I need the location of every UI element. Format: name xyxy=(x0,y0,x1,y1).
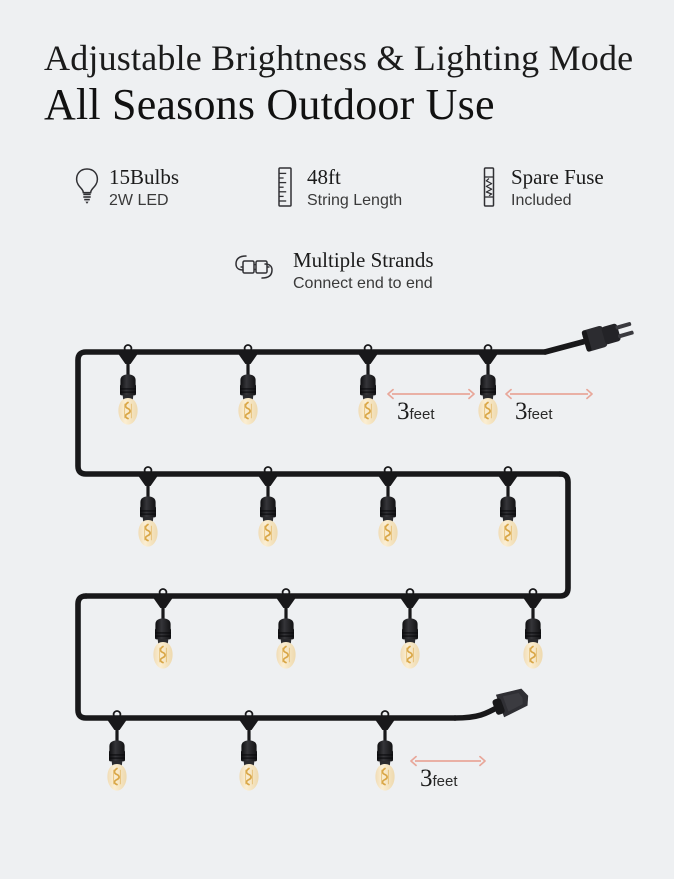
feature-text-fuse: Spare Fuse Included xyxy=(511,165,604,211)
bulb xyxy=(275,589,297,669)
bulb xyxy=(377,467,399,547)
feature-title: 15Bulbs xyxy=(109,166,179,188)
bulb xyxy=(399,589,421,669)
male-plug-end xyxy=(581,317,635,352)
bulb xyxy=(238,711,260,791)
dimension-unit: feet xyxy=(528,406,553,423)
bulb xyxy=(357,345,379,425)
dimension-unit: feet xyxy=(410,406,435,423)
bulb xyxy=(497,467,519,547)
cord-to-plug xyxy=(545,340,590,352)
feature-item-length: 48ft String Length xyxy=(272,165,402,211)
plug-connector-icon xyxy=(232,248,284,292)
dimension-unit: feet xyxy=(433,773,458,790)
string-light-layout-diagram: 3feet 3feet 3feet xyxy=(0,310,674,870)
dimension-number: 3 xyxy=(397,398,410,425)
fuse-icon xyxy=(476,165,502,209)
dimension-number: 3 xyxy=(420,765,433,792)
feature-subtitle: Connect end to end xyxy=(293,274,434,294)
bulb-row-1 xyxy=(117,345,499,425)
bulb-row-3 xyxy=(152,589,544,669)
cord-to-connector xyxy=(455,706,500,718)
feature-text-length: 48ft String Length xyxy=(307,165,402,211)
headline-line-2: All Seasons Outdoor Use xyxy=(44,80,644,130)
feature-title: Spare Fuse xyxy=(511,166,604,188)
light-bulb-icon xyxy=(74,165,100,209)
female-connector-end xyxy=(490,684,532,719)
dimension-label-3: 3feet xyxy=(420,765,458,793)
feature-text-bulbs: 15Bulbs 2W LED xyxy=(109,165,179,211)
dimension-label-1: 3feet xyxy=(397,398,435,426)
feature-item-bulbs: 15Bulbs 2W LED xyxy=(74,165,179,211)
bulb-row-4 xyxy=(106,711,396,791)
feature-subtitle: 2W LED xyxy=(109,191,179,211)
infographic-page: Adjustable Brightness & Lighting Mode Al… xyxy=(0,0,674,879)
feature-subtitle: Included xyxy=(511,191,604,211)
bulb xyxy=(374,711,396,791)
page-title: Adjustable Brightness & Lighting Mode Al… xyxy=(44,38,644,130)
bulb xyxy=(257,467,279,547)
feature-list: 15Bulbs 2W LED 48ft String xyxy=(0,160,674,305)
bulb xyxy=(117,345,139,425)
ruler-icon xyxy=(272,165,298,209)
feature-title: 48ft xyxy=(307,166,402,188)
dimension-number: 3 xyxy=(515,398,528,425)
bulb xyxy=(152,589,174,669)
feature-item-fuse: Spare Fuse Included xyxy=(476,165,604,211)
bulb xyxy=(106,711,128,791)
dimension-label-2: 3feet xyxy=(515,398,553,426)
headline-line-1: Adjustable Brightness & Lighting Mode xyxy=(44,38,644,78)
feature-item-strands: Multiple Strands Connect end to end xyxy=(232,248,434,294)
bulb xyxy=(237,345,259,425)
bulb xyxy=(522,589,544,669)
bulb-row-2 xyxy=(137,467,519,547)
bulb xyxy=(137,467,159,547)
feature-subtitle: String Length xyxy=(307,191,402,211)
feature-text-strands: Multiple Strands Connect end to end xyxy=(293,248,434,294)
feature-title: Multiple Strands xyxy=(293,249,434,271)
bulb xyxy=(477,345,499,425)
